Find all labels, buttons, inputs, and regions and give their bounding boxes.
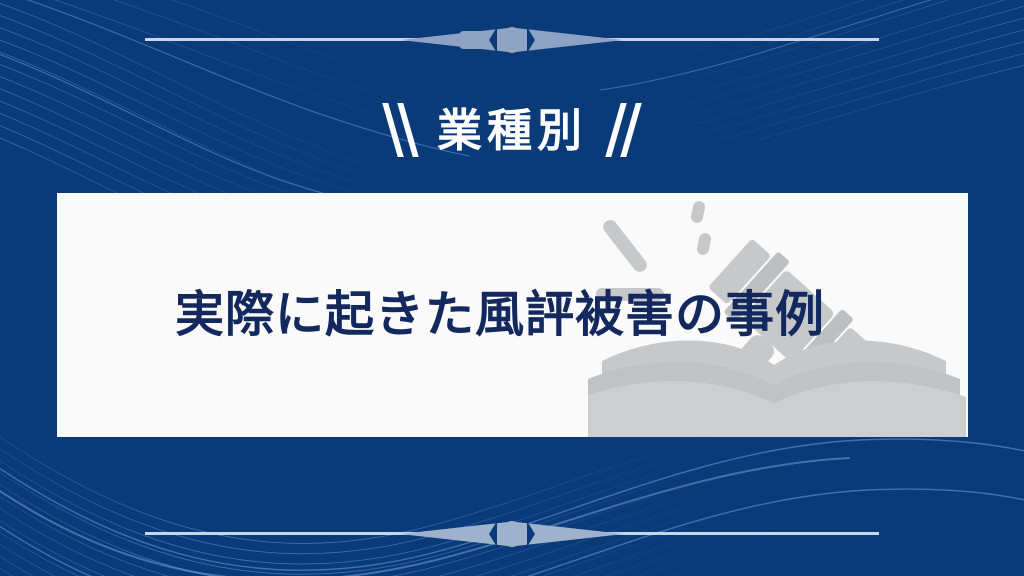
- top-divider-ornament: [0, 18, 1024, 62]
- heading-label: 業種別: [437, 108, 587, 153]
- right-slashes-icon: [613, 103, 634, 157]
- left-slashes-icon: [390, 103, 411, 157]
- heading: 業種別: [0, 95, 1024, 165]
- title-card: 実際に起きた風評被害の事例: [57, 193, 968, 437]
- card-title: 実際に起きた風評被害の事例: [57, 193, 968, 437]
- bottom-divider-ornament: [0, 512, 1024, 556]
- slide-root: 業種別: [0, 0, 1024, 576]
